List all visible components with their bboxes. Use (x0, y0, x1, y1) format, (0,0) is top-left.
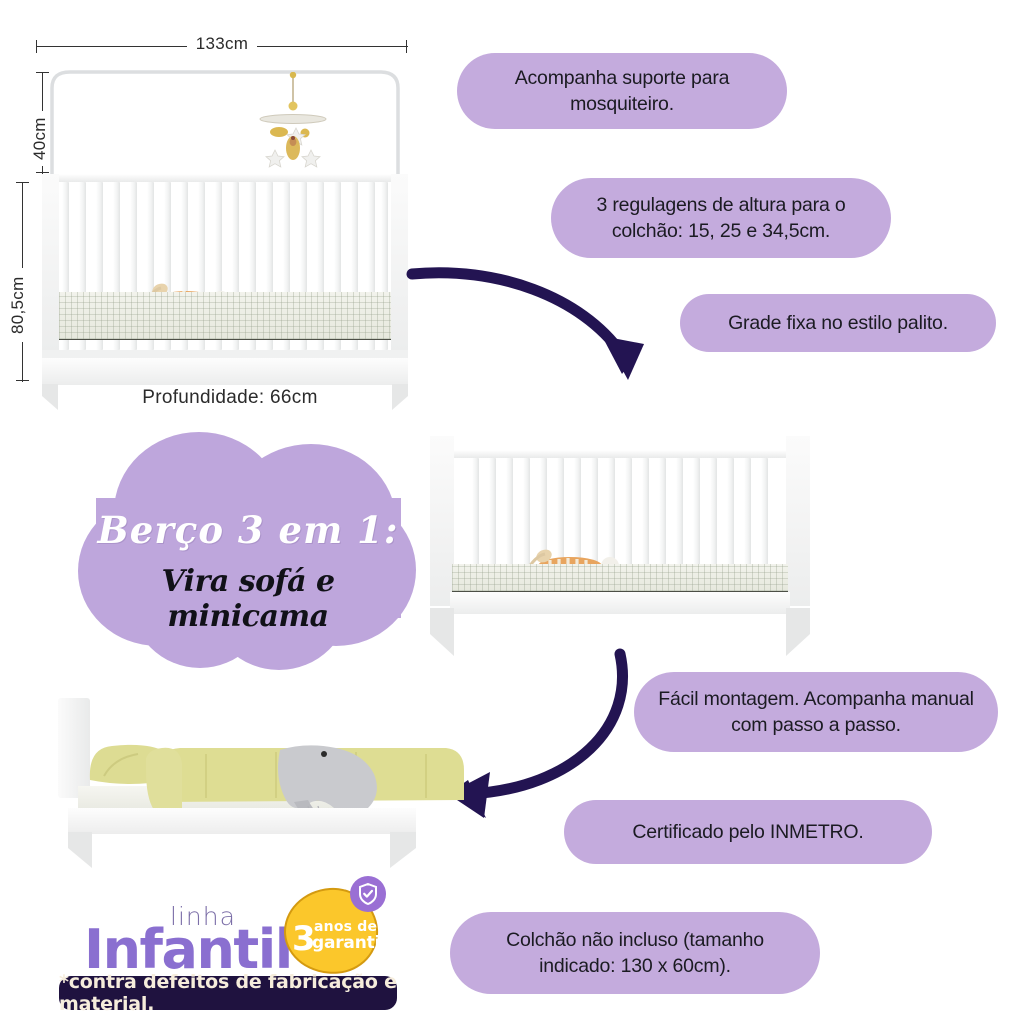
daybed-mattress (452, 564, 788, 592)
width-label: 133cm (187, 34, 258, 53)
body-height-tick-upper (16, 182, 29, 183)
mini-bed-illustration (50, 698, 420, 868)
callout-inmetro-text: Certificado pelo INMETRO. (632, 819, 863, 845)
brand-warranty-block: linha Infantil 3 anos de garantia *contr… (60, 876, 420, 1016)
callout-height-adjust-text: 3 regulagens de altura para o colchão: 1… (573, 192, 869, 244)
infographic-page: 133cm 40cm 80,5cm Profundidade: 66cm (0, 0, 1024, 1024)
body-height-tick-lower (16, 380, 29, 381)
callout-mosquito-support-text: Acompanha suporte para mosquiteiro. (479, 65, 765, 117)
callout-mosquito-support[interactable]: Acompanha suporte para mosquiteiro. (457, 53, 787, 129)
callout-easy-assembly-text: Fácil montagem. Acompanha manual com pas… (656, 686, 976, 738)
daybed-left-panel (430, 436, 454, 606)
mini-bed-legs (50, 832, 420, 874)
cloud-title-line1: Berço 3 em 1: (78, 508, 418, 552)
warranty-badge-line2: garantia (312, 935, 391, 952)
arrow-down-right-icon (406, 258, 656, 408)
daybed-back-top-rail (454, 450, 786, 458)
callout-mattress-note[interactable]: Colchão não incluso (tamanho indicado: 1… (450, 912, 820, 994)
crib-top-rail (42, 174, 408, 182)
crib-left-post (42, 174, 59, 352)
callout-mattress-note-text: Colchão não incluso (tamanho indicado: 1… (472, 927, 798, 979)
cloud-title-line2: Vira sofá e minicama (78, 564, 418, 634)
shield-check-glyph (358, 883, 378, 905)
crib-mattress (59, 292, 391, 340)
daybed-illustration (430, 432, 810, 662)
callout-easy-assembly[interactable]: Fácil montagem. Acompanha manual com pas… (634, 672, 998, 752)
callout-inmetro[interactable]: Certificado pelo INMETRO. (564, 800, 932, 864)
callout-height-adjust[interactable]: 3 regulagens de altura para o colchão: 1… (551, 178, 891, 258)
warranty-footer-note: *contra defeitos de fabricação e materia… (59, 976, 397, 1010)
warranty-footer-note-text: *contra defeitos de fabricação e materia… (59, 971, 397, 1015)
callout-fixed-rail[interactable]: Grade fixa no estilo palito. (680, 294, 996, 352)
crib-illustration (36, 62, 414, 392)
daybed-right-panel (786, 436, 810, 606)
callout-fixed-rail-text: Grade fixa no estilo palito. (728, 310, 948, 336)
warranty-badge-line1: anos de (314, 920, 377, 934)
shield-icon (350, 876, 386, 912)
mosquito-net-support (36, 62, 414, 182)
baby-mobile-icon (248, 72, 338, 182)
crib-base-panel (42, 358, 408, 385)
mini-bed-frame (68, 808, 416, 834)
crib-lower-rail (42, 350, 408, 358)
cloud-banner: Berço 3 em 1: Vira sofá e minicama (78, 428, 418, 673)
crib-legs (36, 384, 414, 414)
body-height-label: 80,5cm (8, 268, 28, 342)
